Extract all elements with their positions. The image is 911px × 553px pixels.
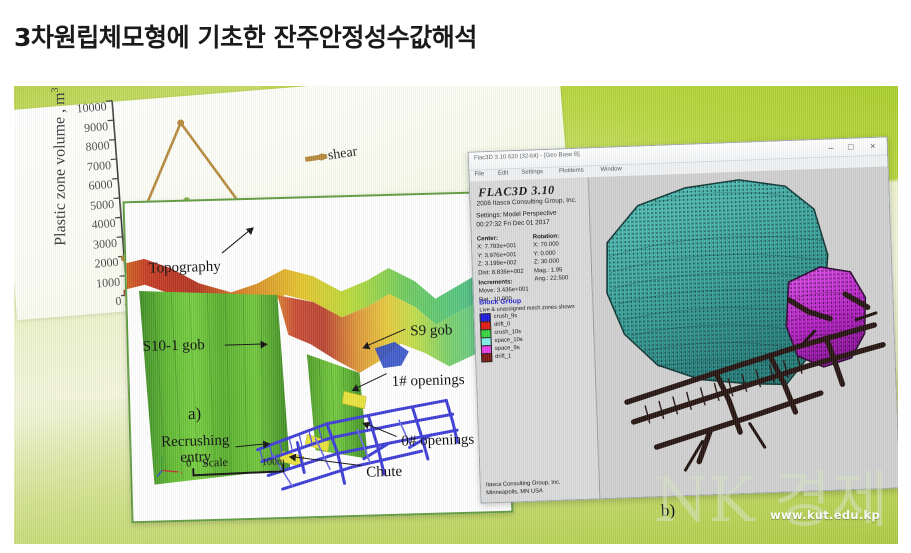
flac3d-model-render — [589, 166, 898, 498]
flac3d-view-params: Center: X: 7.793e+001Y: 3.976e+001Z: 3.1… — [477, 232, 587, 236]
center-value: Dist: 8.836e+002 — [478, 267, 536, 278]
flac3d-window-wrapper: Flac3D 3.10 620 (32-bit) - [Geo Base B] … — [468, 136, 898, 503]
panel-a-inner: Topography S10-1 gob S9 gob 1# openings … — [125, 193, 512, 521]
slide-image: Plastic zone volume , m3 100009000800070… — [14, 86, 898, 544]
flac3d-viewport[interactable] — [589, 166, 898, 498]
slide-screenshot: 3차원립체모형에 기초한 잔주안정성수값해석 Plastic zone volu… — [0, 0, 911, 553]
menu-item-edit[interactable]: Edit — [498, 170, 509, 176]
block-group-label: drift_1 — [495, 353, 511, 360]
legend-marker-shear — [318, 153, 326, 161]
label-recrushing-line1: Recrushing — [161, 433, 230, 451]
minimize-button[interactable]: – — [823, 141, 839, 155]
label-s9-gob: S9 gob — [410, 322, 453, 340]
y-axis-label-exponent: 3 — [50, 87, 61, 92]
label-s10-gob: S10-1 gob — [142, 337, 205, 356]
rotation-rows: X: 70.000Y: 0.000Z: 30.000Mag.: 1.95Ang.… — [533, 240, 589, 284]
window-body: FLAC3D 3.10 2006 Itasca Consulting Group… — [470, 166, 898, 502]
block-group-items: crush_9sdrift_0crush_10sspace_10sspace_9… — [480, 309, 594, 361]
block-group-label: crush_9s — [494, 313, 518, 320]
block-group-swatch — [481, 353, 492, 362]
maximize-button[interactable]: □ — [843, 140, 859, 154]
menu-item-file[interactable]: File — [474, 171, 484, 177]
block-group-label: space_10s — [495, 337, 523, 344]
view-params-right: Rotation: X: 70.000Y: 0.000Z: 30.000Mag.… — [533, 232, 589, 284]
menu-item-plotitems[interactable]: Plotitems — [559, 168, 584, 175]
svg-text:x: x — [180, 471, 183, 476]
flac3d-footer: Itasca Consulting Group, Inc. Minneapoli… — [486, 480, 561, 498]
flac3d-window: Flac3D 3.10 620 (32-bit) - [Geo Base B] … — [468, 136, 898, 503]
block-group-label: space_9s — [495, 345, 520, 352]
flac3d-datetime: 00:27:32 Fri Dec 01 2017 — [476, 219, 550, 229]
watermark-url: www.kut.edu.kp — [770, 508, 880, 522]
legend-label-shear: shear — [327, 144, 358, 163]
menu-item-settings[interactable]: Settings — [521, 169, 543, 176]
page-title: 3차원립체모형에 기초한 잔주안정성수값해석 — [14, 18, 774, 60]
axis-triad: z x — [154, 450, 189, 479]
menu-item-window[interactable]: Window — [600, 166, 622, 173]
block-group-legend: Block Group Live & unassigned mech zones… — [479, 295, 593, 361]
scale-text: Scale — [202, 455, 229, 471]
block-group-label: crush_10s — [494, 329, 521, 336]
flac3d-info-panel: FLAC3D 3.10 2006 Itasca Consulting Group… — [470, 177, 601, 502]
window-title-text: Flac3D 3.10 620 (32-bit) - [Geo Base B] — [474, 152, 580, 162]
label-0-openings: 0# openings — [401, 432, 474, 451]
caption-a: a) — [188, 404, 202, 424]
close-button[interactable]: × — [865, 140, 881, 154]
caption-b: b) — [661, 500, 676, 521]
label-1-openings: 1# openings — [392, 372, 465, 391]
view-params-left: Center: X: 7.793e+001Y: 3.976e+001Z: 3.1… — [477, 233, 537, 304]
panel-a-figure: Topography S10-1 gob S9 gob 1# openings … — [123, 191, 514, 524]
rotation-value: Ang.: 22.500 — [534, 274, 588, 284]
block-group-label: drift_0 — [494, 321, 510, 328]
svg-text:z: z — [158, 451, 161, 456]
center-rows: X: 7.793e+001Y: 3.976e+001Z: 3.199e+002D… — [477, 242, 536, 278]
label-topography: Topography — [148, 259, 221, 278]
label-chute: Chute — [366, 464, 402, 482]
